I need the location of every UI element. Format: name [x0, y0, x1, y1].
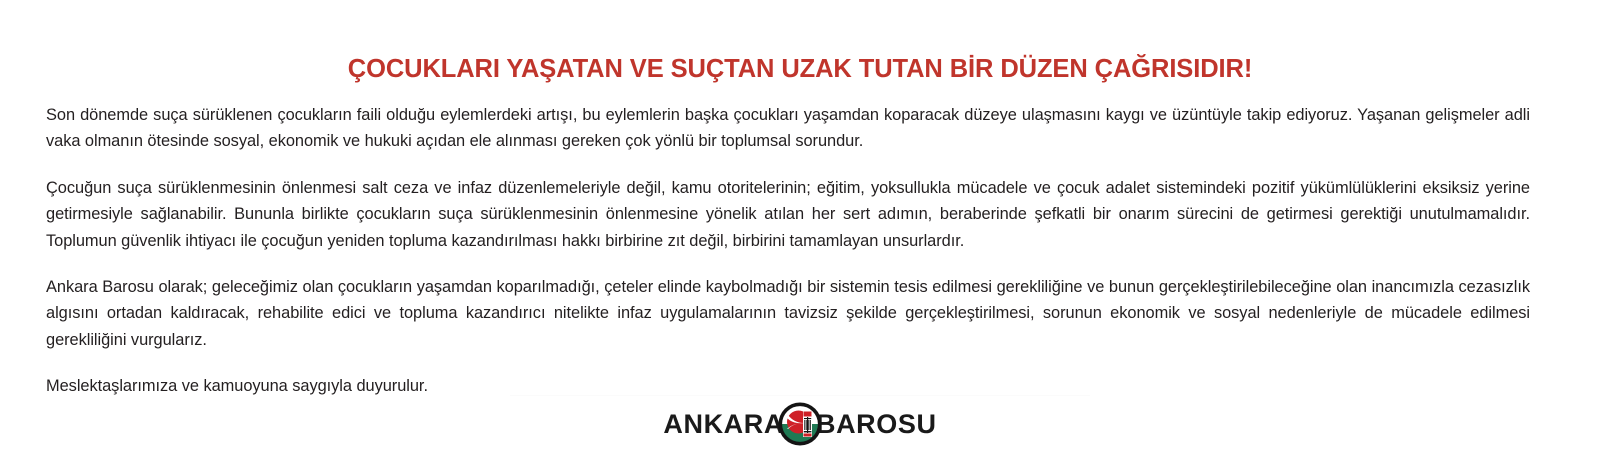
paragraph-3: Ankara Barosu olarak; geleceğimiz olan ç… — [46, 274, 1530, 353]
page-title-container: ÇOCUKLARI YAŞATAN VE SUÇTAN UZAK TUTAN B… — [0, 38, 1600, 101]
document-body: Son dönemde suça sürüklenen çocukların f… — [46, 102, 1530, 400]
paragraph-1: Son dönemde suça sürüklenen çocukların f… — [46, 102, 1530, 155]
footer-divider — [510, 395, 1090, 396]
press-release-document: ÇOCUKLARI YAŞATAN VE SUÇTAN UZAK TUTAN B… — [0, 0, 1600, 458]
ankara-barosu-emblem-icon — [778, 402, 822, 446]
ankara-barosu-logo: ANKARA — [0, 402, 1600, 446]
page-title: ÇOCUKLARI YAŞATAN VE SUÇTAN UZAK TUTAN B… — [348, 55, 1252, 84]
logo-word-ankara: ANKARA — [663, 411, 784, 438]
logo-word-barosu: BAROSU — [816, 411, 937, 438]
paragraph-2: Çocuğun suça sürüklenmesinin önlenmesi s… — [46, 175, 1530, 254]
